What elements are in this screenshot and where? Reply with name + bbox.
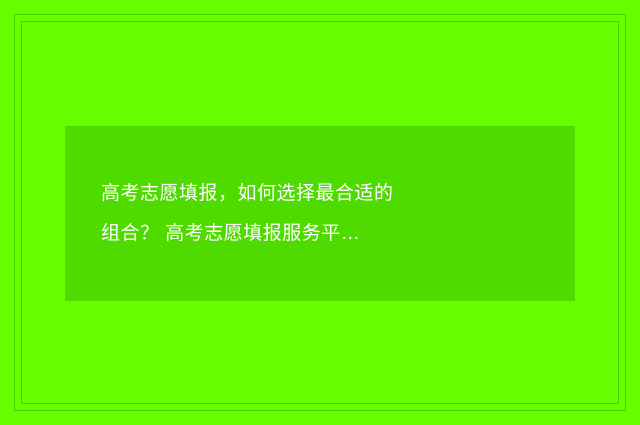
headline-line-1: 高考志愿填报，如何选择最合适的: [101, 174, 539, 214]
image-canvas: 高考志愿填报，如何选择最合适的 组合？ 高考志愿填报服务平…: [0, 0, 640, 425]
headline-panel: 高考志愿填报，如何选择最合适的 组合？ 高考志愿填报服务平…: [65, 126, 575, 301]
headline-line-2: 组合？ 高考志愿填报服务平…: [101, 214, 539, 254]
